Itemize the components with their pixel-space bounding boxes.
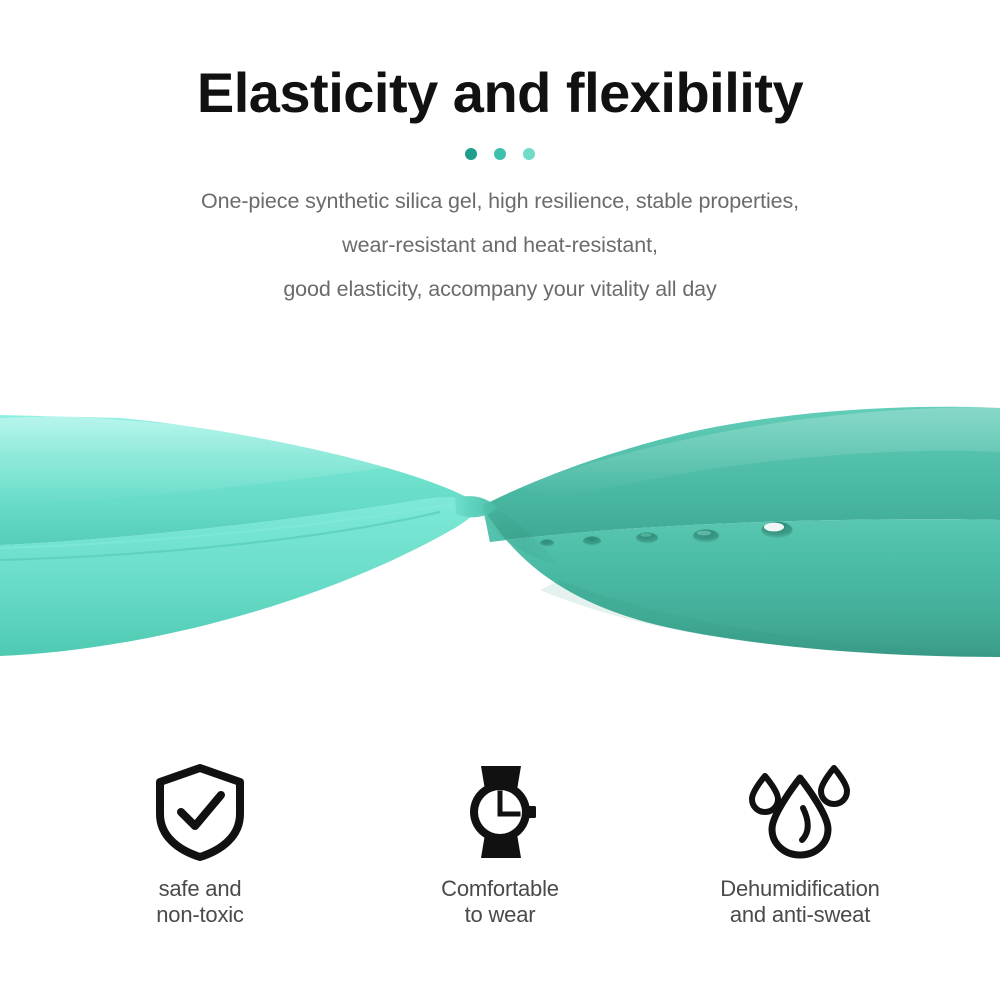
feature-row: safe and non-toxic Comfortable to wear — [0, 760, 1000, 950]
header: Elasticity and flexibility One-piece syn… — [0, 0, 1000, 311]
water-drops-icon — [745, 762, 855, 862]
dot-2-icon — [494, 148, 506, 160]
dot-3-icon — [523, 148, 535, 160]
feature-label-2-line2: to wear — [441, 902, 559, 928]
feature-label-1-line2: non-toxic — [156, 902, 243, 928]
feature-icon-wrap-1 — [152, 760, 248, 864]
subtitle-block: One-piece synthetic silica gel, high res… — [70, 179, 930, 311]
feature-safe-non-toxic: safe and non-toxic — [50, 760, 350, 928]
feature-label-3-line2: and anti-sweat — [720, 902, 879, 928]
feature-icon-wrap-3 — [745, 760, 855, 864]
band-hole-2 — [583, 536, 601, 545]
band-hole-1 — [540, 539, 554, 546]
feature-label-3: Dehumidification and anti-sweat — [720, 876, 879, 928]
feature-dehumidification: Dehumidification and anti-sweat — [650, 760, 950, 928]
decorative-dots — [455, 147, 545, 161]
feature-label-2-line1: Comfortable — [441, 876, 559, 901]
shield-check-icon — [152, 762, 248, 862]
product-image — [0, 380, 1000, 680]
feature-comfortable-to-wear: Comfortable to wear — [350, 760, 650, 928]
feature-label-1-line1: safe and — [159, 876, 242, 901]
subtitle-line-1: One-piece synthetic silica gel, high res… — [70, 179, 930, 223]
dot-1-icon — [465, 148, 477, 160]
feature-label-2: Comfortable to wear — [441, 876, 559, 928]
feature-icon-wrap-2 — [452, 760, 548, 864]
twisted-band-illustration — [0, 380, 1000, 680]
band-hole-3-highlight — [641, 533, 652, 537]
feature-label-3-line1: Dehumidification — [720, 876, 879, 901]
page-title: Elasticity and flexibility — [0, 0, 1000, 125]
wristwatch-icon — [452, 762, 548, 862]
band-hole-5-highlight — [764, 523, 784, 532]
feature-label-1: safe and non-toxic — [156, 876, 243, 928]
subtitle-line-2: wear-resistant and heat-resistant, — [70, 223, 930, 267]
subtitle-line-3: good elasticity, accompany your vitality… — [70, 267, 930, 311]
band-hole-4-highlight — [697, 531, 711, 536]
